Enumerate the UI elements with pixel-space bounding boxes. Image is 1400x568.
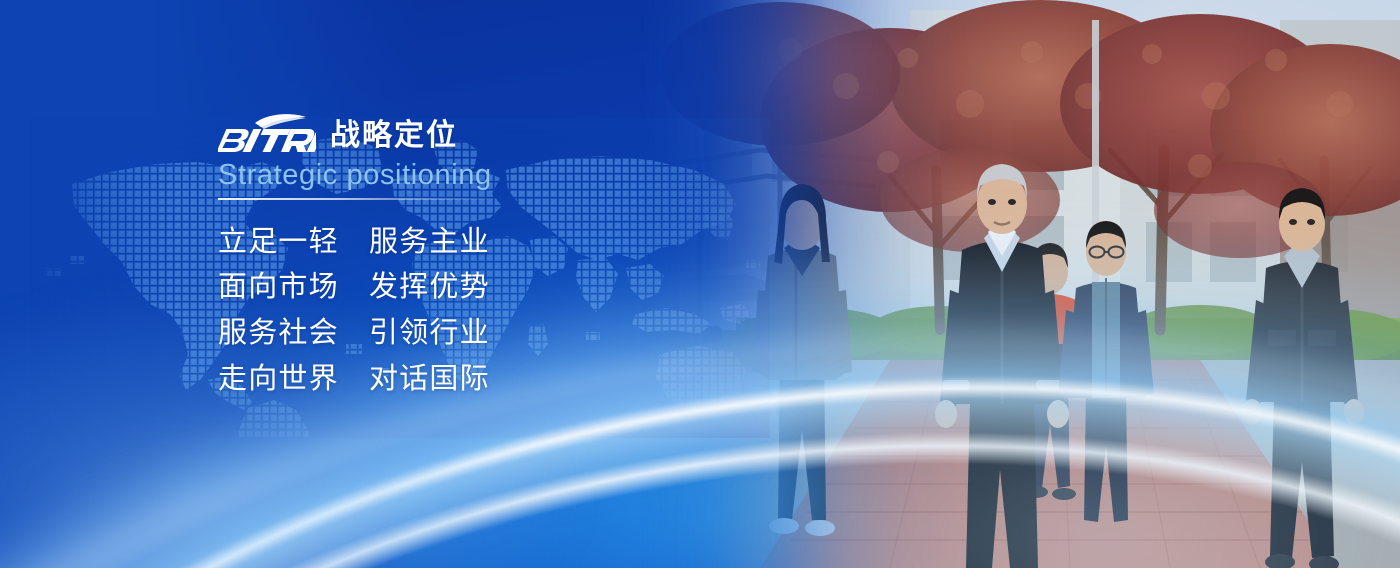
banner-content: 战略定位 Strategic positioning 立足一轻 服务主业 面向市… (218, 108, 778, 402)
slogan-line-3: 服务社会 引领行业 (218, 311, 778, 356)
bitri-swoosh-icon (218, 112, 316, 154)
slogan-line-1: 立足一轻 服务主业 (218, 220, 778, 265)
slogan-list: 立足一轻 服务主业 面向市场 发挥优势 服务社会 引领行业 走向世界 对话国际 (218, 220, 778, 402)
strategic-positioning-banner: 战略定位 Strategic positioning 立足一轻 服务主业 面向市… (0, 0, 1400, 568)
slogan-line-2: 面向市场 发挥优势 (218, 265, 778, 310)
slogan-line-4: 走向世界 对话国际 (218, 357, 778, 402)
page-title: 战略定位 (330, 121, 458, 154)
subtitle-en: Strategic positioning (218, 160, 778, 192)
title-row: 战略定位 (218, 108, 778, 154)
divider-rule (218, 198, 503, 200)
